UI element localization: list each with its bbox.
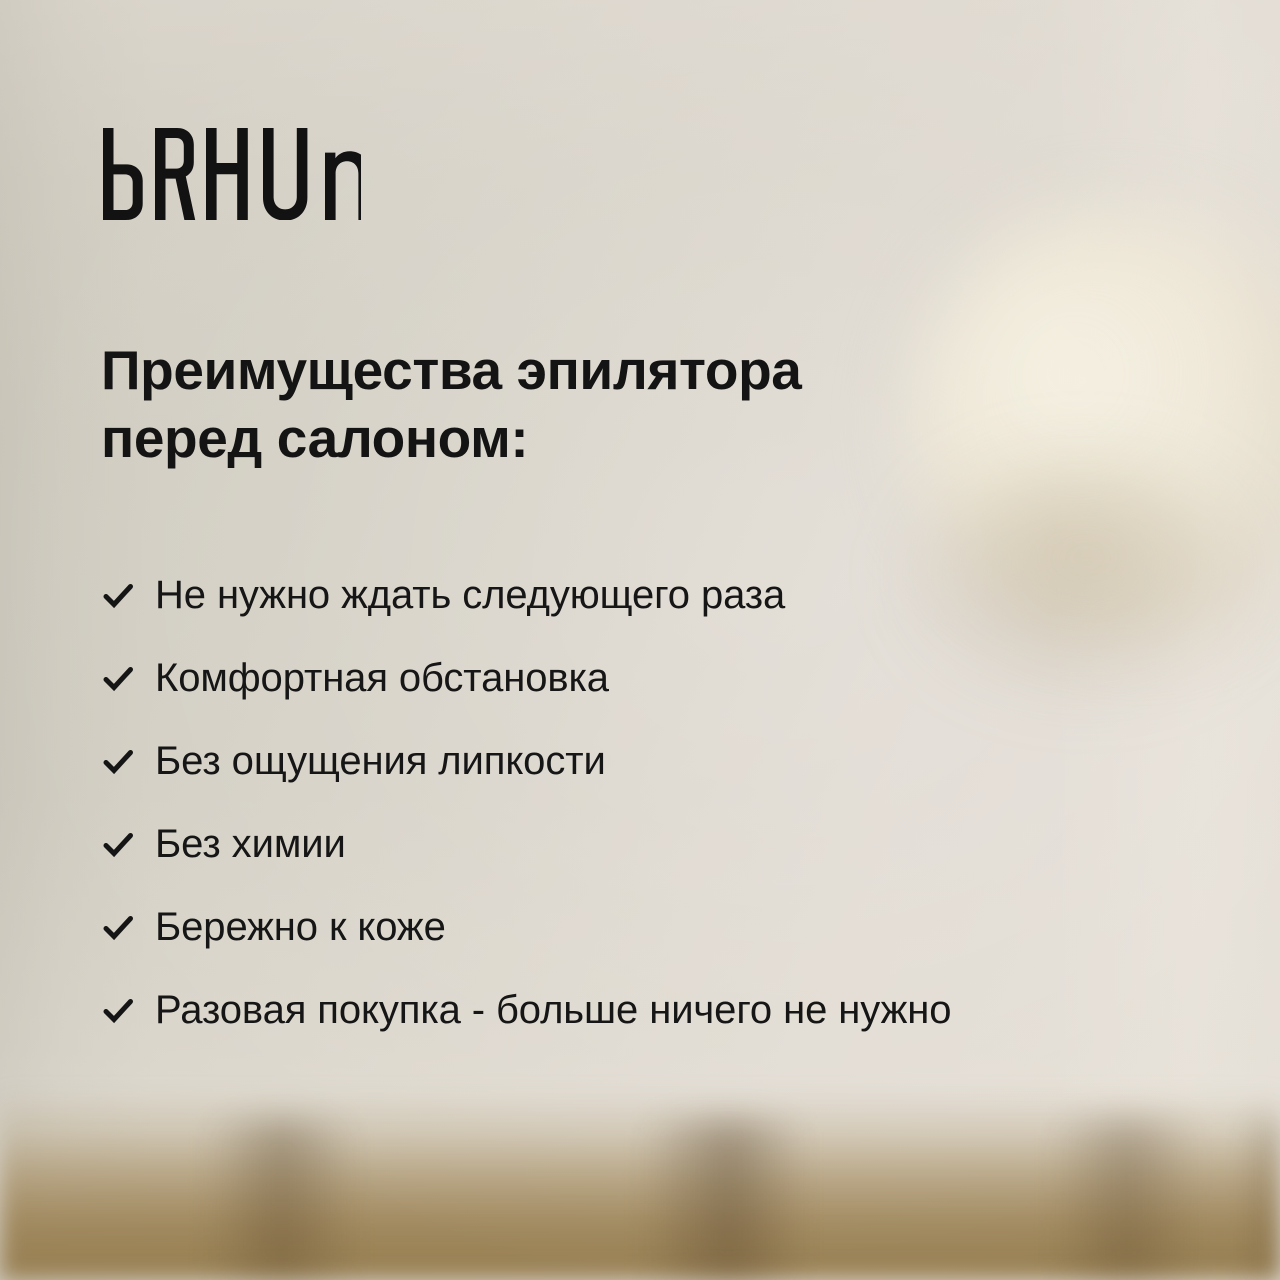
promo-card: Преимущества эпилятора перед салоном: Не… — [0, 0, 1280, 1280]
list-item: Без химии — [101, 802, 1171, 885]
benefit-label: Без ощущения липкости — [155, 740, 606, 782]
benefit-label: Разовая покупка - больше ничего не нужно — [155, 989, 951, 1031]
list-item: Бережно к коже — [101, 885, 1171, 968]
card-content: Преимущества эпилятора перед салоном: Не… — [0, 0, 1280, 1280]
check-icon — [101, 662, 135, 696]
benefit-label: Бережно к коже — [155, 906, 446, 948]
list-item: Не нужно ждать следующего раза — [101, 553, 1171, 636]
benefit-label: Без химии — [155, 823, 346, 865]
check-icon — [101, 994, 135, 1028]
page-title-line-2: перед салоном: — [101, 407, 528, 469]
benefit-label: Не нужно ждать следующего раза — [155, 574, 785, 616]
check-icon — [101, 911, 135, 945]
benefits-list: Не нужно ждать следующего раза Комфортна… — [101, 553, 1171, 1051]
braun-logo — [103, 128, 361, 220]
page-title: Преимущества эпилятора перед салоном: — [101, 336, 1001, 472]
list-item: Без ощущения липкости — [101, 719, 1171, 802]
list-item: Разовая покупка - больше ничего не нужно — [101, 968, 1171, 1051]
page-title-line-1: Преимущества эпилятора — [101, 339, 801, 401]
check-icon — [101, 828, 135, 862]
braun-wordmark-icon — [103, 128, 361, 220]
list-item: Комфортная обстановка — [101, 636, 1171, 719]
benefit-label: Комфортная обстановка — [155, 657, 609, 699]
check-icon — [101, 745, 135, 779]
check-icon — [101, 579, 135, 613]
